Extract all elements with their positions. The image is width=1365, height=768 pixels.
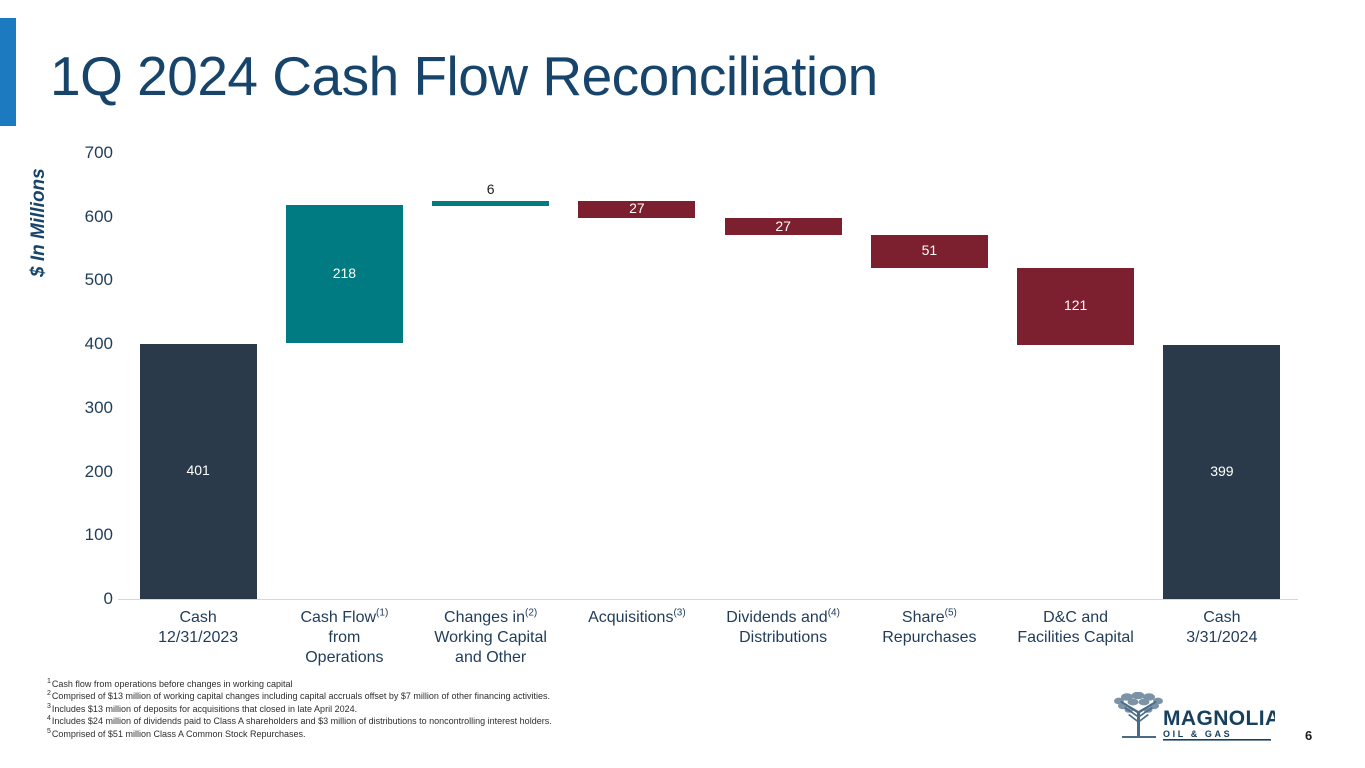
category-label-1: Cash Flow(1)fromOperations <box>271 608 417 668</box>
category-label-line: Cash <box>1149 608 1295 628</box>
footnote-5: 5Comprised of $51 million Class A Common… <box>47 728 747 740</box>
category-label-line: Dividends and(4) <box>710 608 856 628</box>
bar-value-label-2: 6 <box>432 181 549 197</box>
y-axis-tick: 700 <box>55 143 113 163</box>
footnote-4: 4Includes $24 million of dividends paid … <box>47 715 747 727</box>
category-label-4: Dividends and(4)Distributions <box>710 608 856 648</box>
y-axis-tick: 400 <box>55 334 113 354</box>
bar-2 <box>432 201 549 206</box>
category-label-2: Changes in(2)Working Capitaland Other <box>418 608 564 668</box>
category-label-line: Cash <box>125 608 271 628</box>
category-label-6: D&C andFacilities Capital <box>1003 608 1149 648</box>
bar-value-label-4: 27 <box>725 218 842 234</box>
category-label-line: Acquisitions(3) <box>564 608 710 628</box>
x-axis-baseline <box>118 599 1298 600</box>
footnotes-block: 1Cash flow from operations before change… <box>47 678 747 740</box>
footnote-2: 2Comprised of $13 million of working cap… <box>47 690 747 702</box>
category-label-line: Distributions <box>710 628 856 648</box>
bar-value-label-7: 399 <box>1163 463 1280 479</box>
category-label-line: and Other <box>418 648 564 668</box>
category-label-5: Share(5)Repurchases <box>856 608 1002 648</box>
tree-icon <box>1114 692 1163 738</box>
y-axis-tick: 100 <box>55 525 113 545</box>
footnote-text: Cash flow from operations before changes… <box>52 679 293 689</box>
footnote-marker: (4) <box>828 608 840 619</box>
category-label-line: D&C and <box>1003 608 1149 628</box>
category-label-line: 3/31/2024 <box>1149 628 1295 648</box>
category-label-line: Share(5) <box>856 608 1002 628</box>
footnote-text: Includes $13 million of deposits for acq… <box>52 704 357 714</box>
logo-tagline: OIL & GAS <box>1163 729 1232 739</box>
bar-value-label-1: 218 <box>286 265 403 281</box>
category-label-3: Acquisitions(3) <box>564 608 710 628</box>
footnote-text: Comprised of $51 million Class A Common … <box>52 729 306 739</box>
category-label-line: from <box>271 628 417 648</box>
bar-value-label-3: 27 <box>578 200 695 216</box>
y-axis-tick: 500 <box>55 270 113 290</box>
chart-plot-area: 4012186272751121399 <box>125 140 1295 600</box>
y-axis-tick: 300 <box>55 398 113 418</box>
footnote-marker: (2) <box>525 608 537 619</box>
category-label-7: Cash3/31/2024 <box>1149 608 1295 648</box>
footnote-text: Includes $24 million of dividends paid t… <box>52 716 552 726</box>
footnote-1: 1Cash flow from operations before change… <box>47 678 747 690</box>
page-number: 6 <box>1305 728 1312 743</box>
bar-value-label-6: 121 <box>1017 297 1134 313</box>
category-label-line: Working Capital <box>418 628 564 648</box>
waterfall-chart: $ In Millions 7006005004003002001000 401… <box>0 0 1365 680</box>
category-label-line: 12/31/2023 <box>125 628 271 648</box>
category-label-0: Cash12/31/2023 <box>125 608 271 648</box>
footnote-marker: (5) <box>945 608 957 619</box>
footnote-marker: (1) <box>376 608 388 619</box>
footnote-text: Comprised of $13 million of working capi… <box>52 691 550 701</box>
bar-value-label-0: 401 <box>140 462 257 478</box>
y-axis-tick: 0 <box>55 589 113 609</box>
bar-value-label-5: 51 <box>871 242 988 258</box>
footnote-3: 3Includes $13 million of deposits for ac… <box>47 703 747 715</box>
y-axis-tick: 600 <box>55 207 113 227</box>
footnote-marker: (3) <box>673 608 685 619</box>
category-label-line: Cash Flow(1) <box>271 608 417 628</box>
y-axis-title: $ In Millions <box>24 148 54 298</box>
y-axis-tick: 200 <box>55 462 113 482</box>
category-label-line: Operations <box>271 648 417 668</box>
category-label-line: Facilities Capital <box>1003 628 1149 648</box>
magnolia-logo: MAGNOLIA OIL & GAS <box>1100 692 1275 744</box>
logo-wordmark: MAGNOLIA <box>1163 707 1275 730</box>
category-label-line: Repurchases <box>856 628 1002 648</box>
category-label-line: Changes in(2) <box>418 608 564 628</box>
